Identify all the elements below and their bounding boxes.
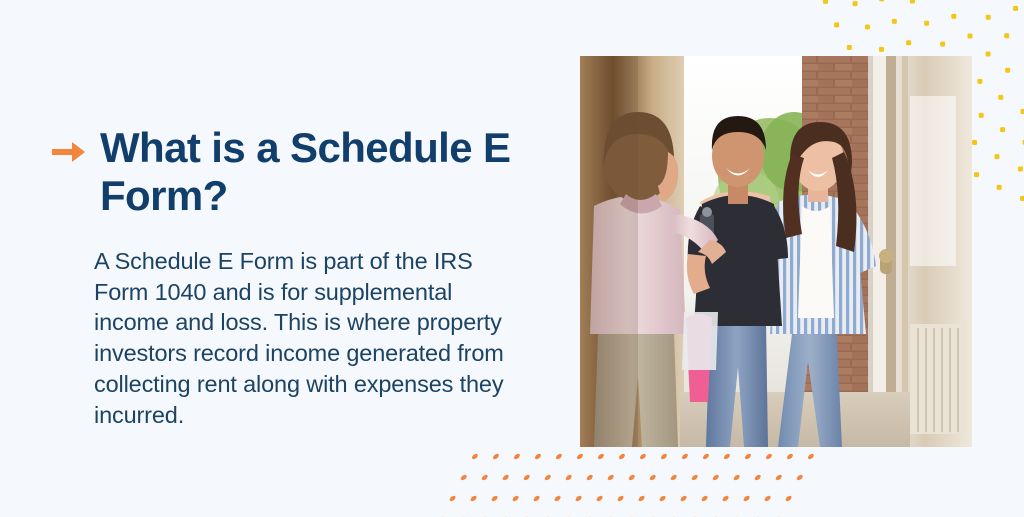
heading-row: What is a Schedule E Form? bbox=[52, 124, 552, 220]
realtor-handing-keys-to-couple-photo bbox=[580, 56, 972, 447]
page-title: What is a Schedule E Form? bbox=[100, 124, 552, 220]
promo-card: What is a Schedule E Form? A Schedule E … bbox=[0, 0, 1024, 517]
orange-skewed-dot-grid-icon bbox=[412, 446, 830, 517]
text-column: What is a Schedule E Form? A Schedule E … bbox=[52, 124, 552, 430]
body-paragraph: A Schedule E Form is part of the IRS For… bbox=[94, 246, 524, 431]
arrow-right-icon bbox=[52, 140, 86, 169]
